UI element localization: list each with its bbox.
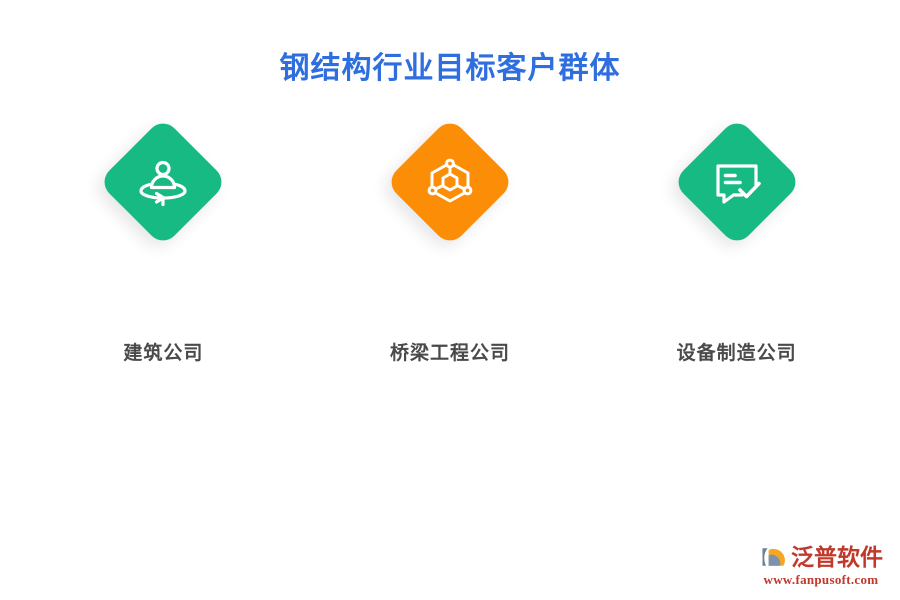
card-item[interactable]: 建筑公司 [43, 112, 283, 365]
card-row: 建筑公司 桥梁工程公司 [20, 112, 880, 365]
card-label: 建筑公司 [123, 338, 203, 365]
watermark: 泛普软件 www.fanpusoft.com [756, 543, 886, 588]
watermark-brand-row: 泛普软件 [759, 543, 883, 571]
card-label: 设备制造公司 [677, 338, 797, 365]
card-item[interactable]: 设备制造公司 [617, 112, 857, 365]
card-icon-container [380, 112, 520, 252]
fanpu-logo-icon [759, 543, 787, 571]
message-check-icon [709, 154, 765, 210]
page-title: 钢结构行业目标客户群体 [0, 48, 900, 90]
user-orbit-icon [135, 154, 191, 210]
card-icon-container [93, 112, 233, 252]
watermark-brand: 泛普软件 [791, 544, 883, 570]
infographic-canvas: 钢结构行业目标客户群体 建筑公司 [0, 0, 900, 600]
watermark-url: www.fanpusoft.com [764, 572, 879, 588]
hexagon-network-icon [422, 154, 478, 210]
card-item[interactable]: 桥梁工程公司 [330, 112, 570, 365]
card-icon-container [667, 112, 807, 252]
card-label: 桥梁工程公司 [390, 338, 510, 365]
